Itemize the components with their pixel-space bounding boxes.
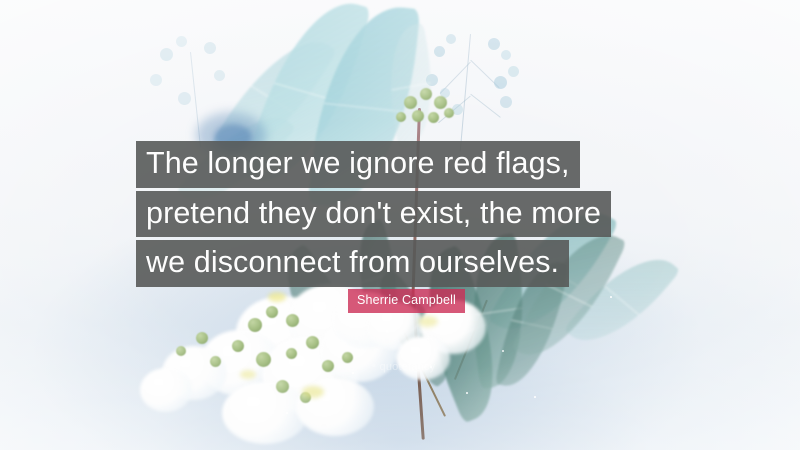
- quote-line: we disconnect from ourselves.: [136, 240, 569, 287]
- quote-line: The longer we ignore red flags,: [136, 141, 580, 188]
- quote-line: pretend they don't exist, the more: [136, 191, 611, 238]
- watermark-label: quotefancy: [380, 362, 436, 373]
- quote-mark-icon: “: [372, 364, 376, 372]
- quotefancy-watermark: “ quotefancy: [372, 362, 435, 373]
- quote-text-block: The longer we ignore red flags, pretend …: [136, 141, 611, 287]
- author-attribution: Sherrie Campbell: [348, 289, 465, 313]
- quote-image-canvas: The longer we ignore red flags, pretend …: [0, 0, 800, 450]
